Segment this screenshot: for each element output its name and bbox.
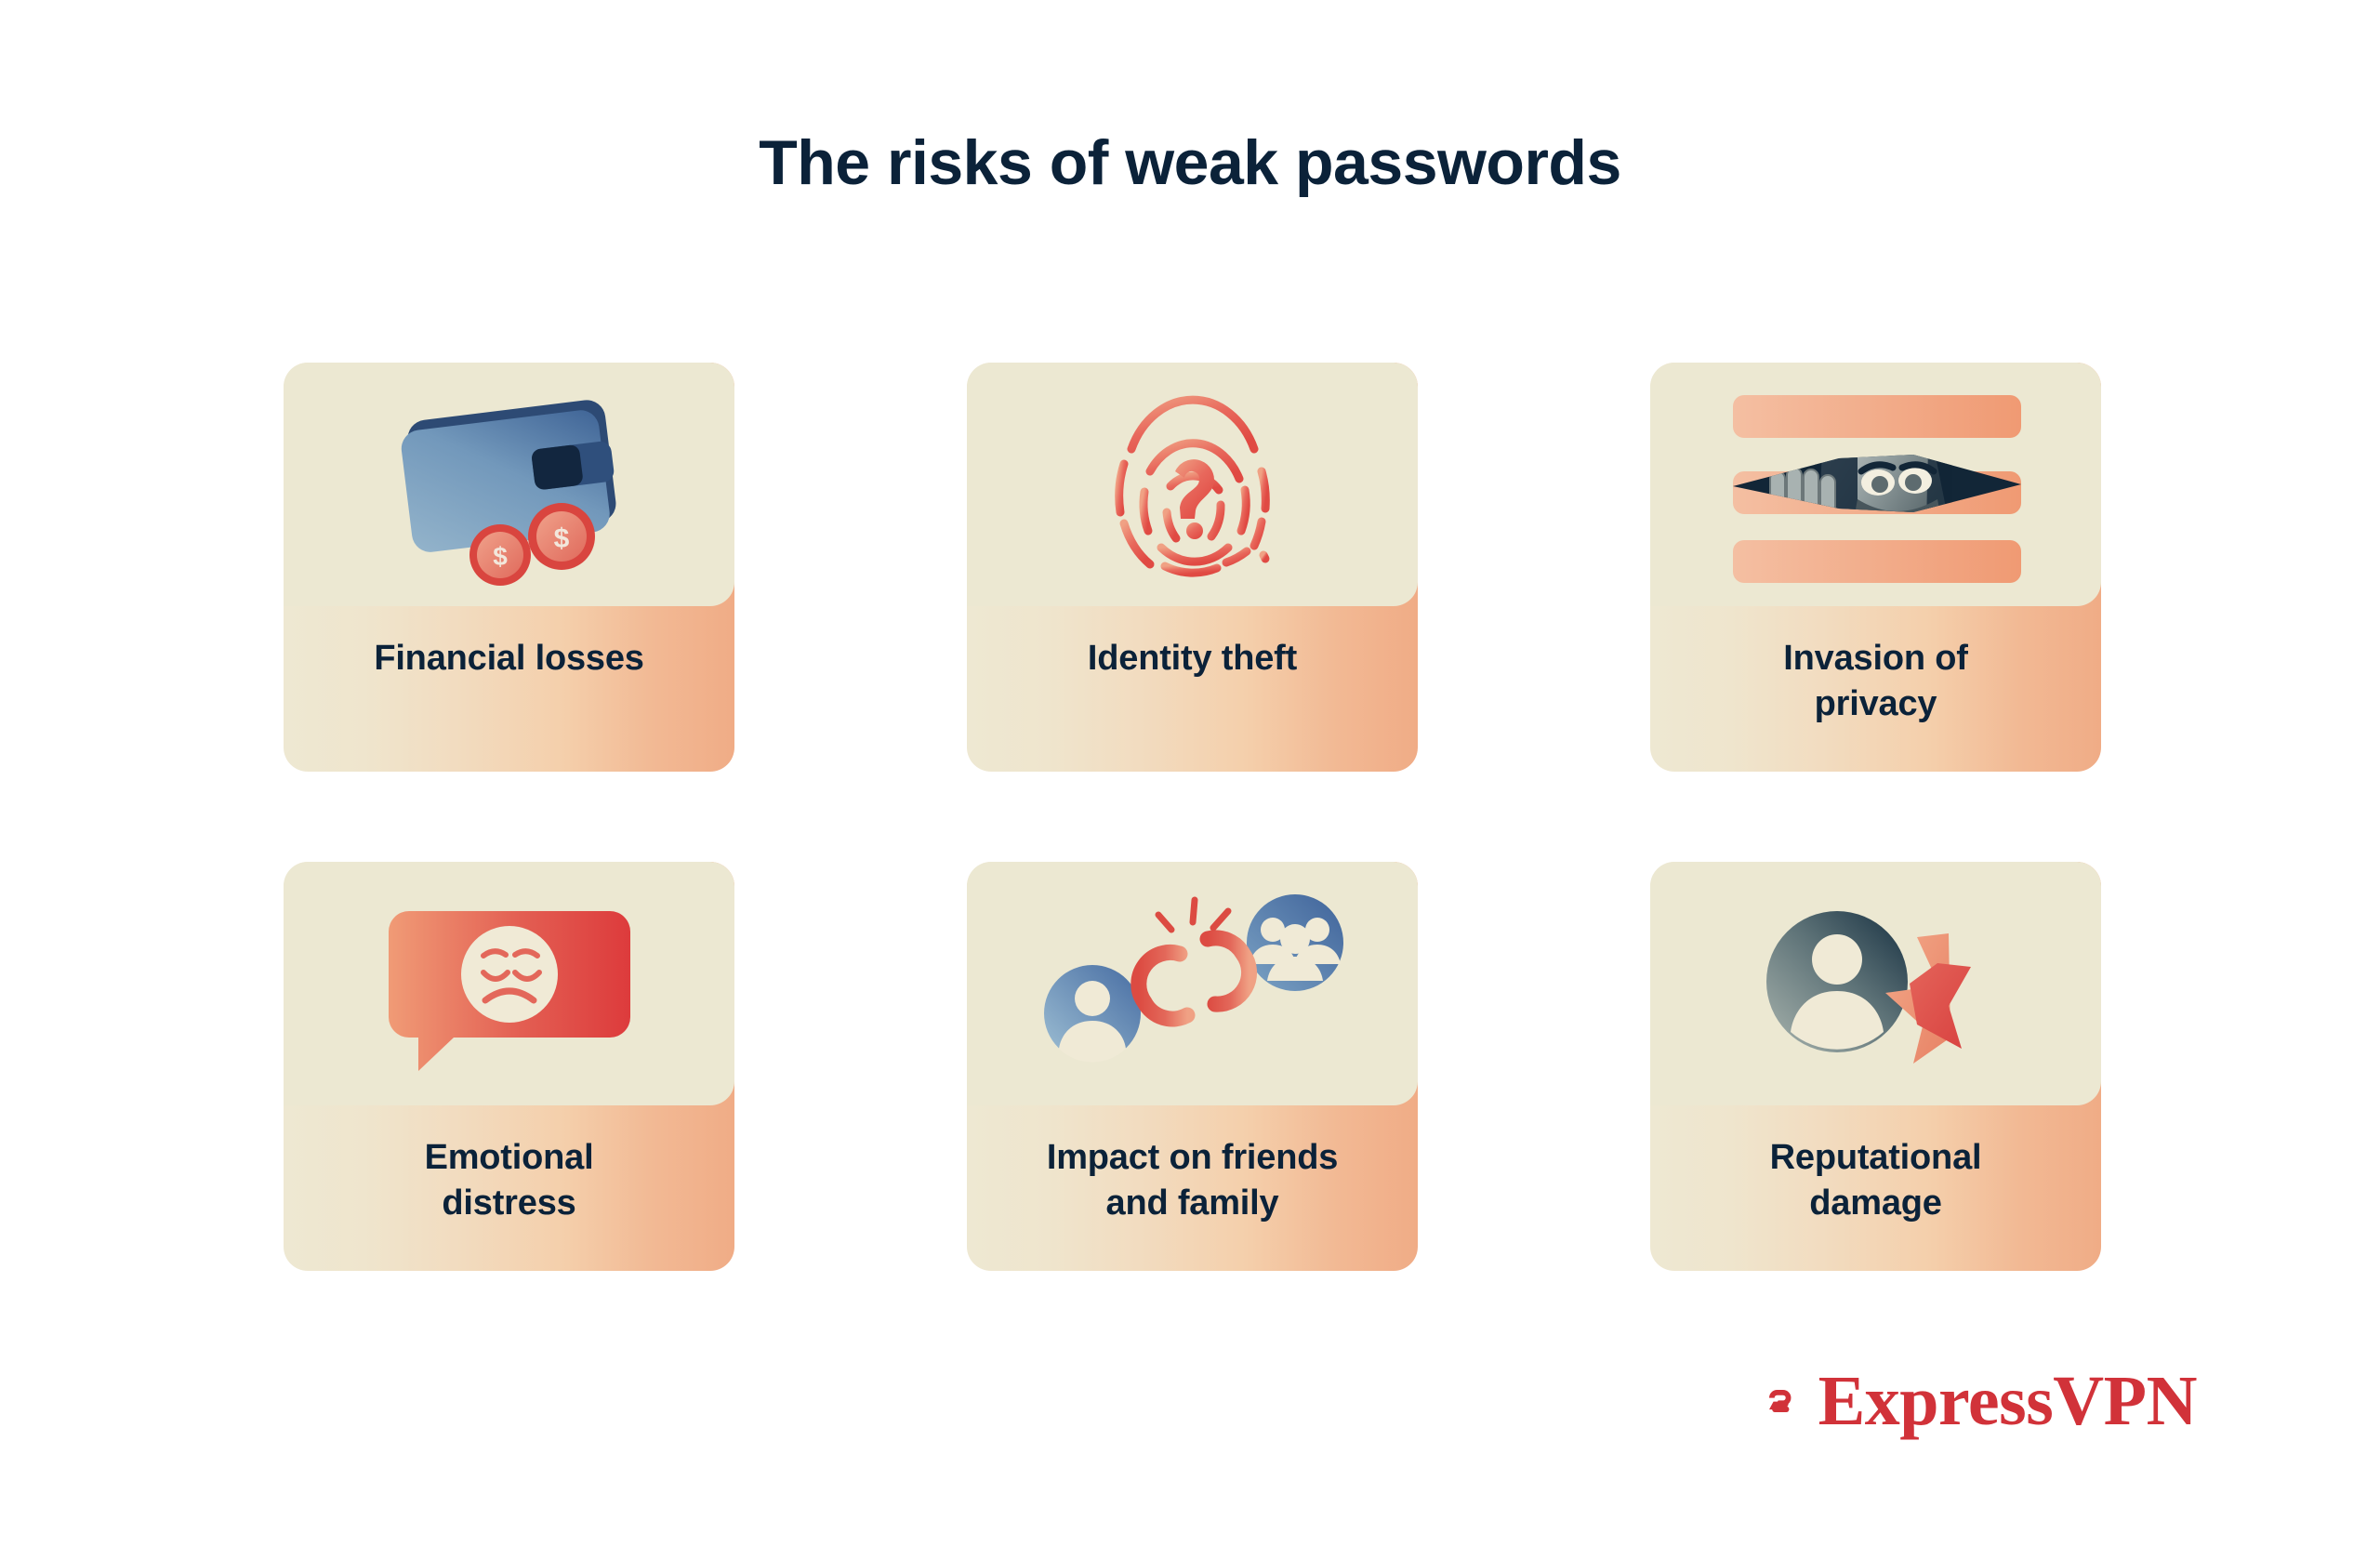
fingerprint-question-icon	[1035, 382, 1351, 587]
risk-card-invasion-of-privacy[interactable]: Invasion ofprivacy	[1650, 363, 2101, 772]
svg-text:$: $	[493, 542, 508, 571]
card-label-text: Identity theft	[1088, 636, 1297, 681]
speech-bubble-sad-face-icon	[351, 881, 668, 1086]
wallet-coins-icon: $ $	[351, 382, 668, 587]
card-label: Reputationaldamage	[1650, 1105, 2101, 1271]
expressvpn-wordmark: ExpressVPN	[1818, 1366, 2197, 1436]
card-icon-area	[284, 862, 734, 1105]
risk-card-impact-on-friends-and-family[interactable]: Impact on friendsand family	[967, 862, 1418, 1271]
risk-card-identity-theft[interactable]: Identity theft	[967, 363, 1418, 772]
risk-card-financial-losses[interactable]: $ $ Financial losses	[284, 363, 734, 772]
expressvpn-logo: ExpressVPN	[1769, 1350, 2197, 1452]
risk-card-emotional-distress[interactable]: Emotionaldistress	[284, 862, 734, 1271]
risk-card-grid: $ $ Financial losses	[284, 363, 2101, 1271]
card-icon-area	[967, 862, 1418, 1105]
card-label-text: Impact on friendsand family	[1047, 1135, 1338, 1225]
card-icon-area	[967, 363, 1418, 606]
card-icon-area	[1650, 363, 2101, 606]
card-label: Invasion ofprivacy	[1650, 606, 2101, 772]
card-label-text: Invasion ofprivacy	[1783, 636, 1967, 726]
card-label: Impact on friendsand family	[967, 1105, 1418, 1271]
svg-text:$: $	[553, 523, 569, 554]
broken-chain-people-icon	[1035, 881, 1351, 1086]
card-label: Emotionaldistress	[284, 1105, 734, 1271]
expressvpn-e-mark-icon	[1769, 1356, 1796, 1446]
card-label-text: Emotionaldistress	[425, 1135, 594, 1225]
person-broken-star-icon	[1718, 881, 2034, 1086]
card-label: Identity theft	[967, 606, 1418, 772]
risk-card-reputational-damage[interactable]: Reputationaldamage	[1650, 862, 2101, 1271]
card-label: Financial losses	[284, 606, 734, 772]
card-label-text: Reputationaldamage	[1770, 1135, 1982, 1225]
card-icon-area	[1650, 862, 2101, 1105]
card-icon-area: $ $	[284, 363, 734, 606]
card-label-text: Financial losses	[374, 636, 643, 681]
blinds-peeking-eyes-icon	[1718, 382, 2034, 587]
page-title: The risks of weak passwords	[0, 130, 2380, 196]
